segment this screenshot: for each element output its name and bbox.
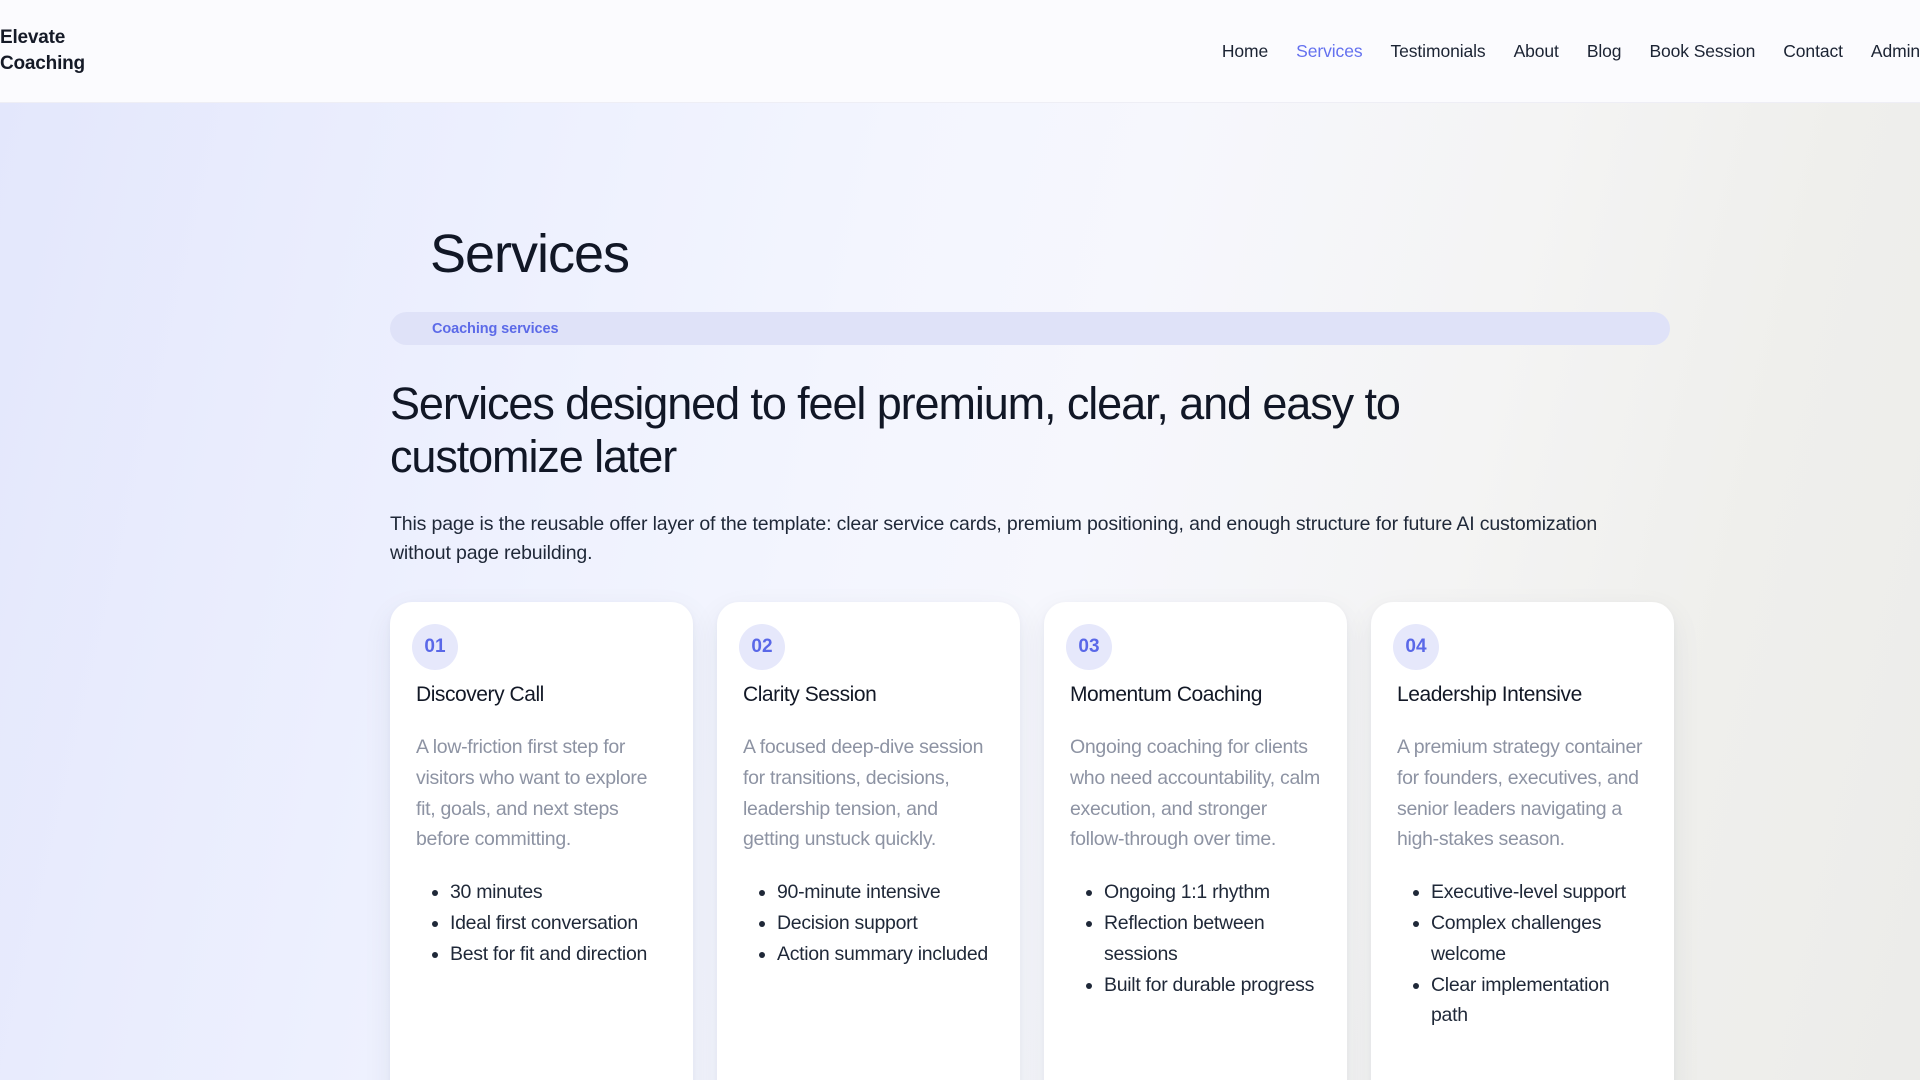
list-item: 90-minute intensive: [777, 877, 994, 908]
hero-subcopy: This page is the reusable offer layer of…: [390, 510, 1660, 569]
nav-item-about[interactable]: About: [1514, 41, 1559, 62]
card-description: A premium strategy container for founder…: [1397, 732, 1648, 855]
list-item: Action summary included: [777, 939, 994, 970]
nav-item-book-session[interactable]: Book Session: [1649, 41, 1755, 62]
eyebrow-label: Coaching services: [432, 321, 558, 337]
hero-headline: Services designed to feel premium, clear…: [390, 377, 1530, 483]
card-description: A low-friction first step for visitors w…: [416, 732, 667, 855]
list-item: Complex challenges welcome: [1431, 908, 1648, 970]
brand-logo[interactable]: Elevate Coaching: [0, 25, 200, 76]
service-cards-row: 01 Discovery Call A low-friction first s…: [390, 602, 1710, 1080]
card-number-badge: 03: [1066, 624, 1112, 670]
card-feature-list: Ongoing 1:1 rhythm Reflection between se…: [1070, 877, 1321, 1000]
list-item: Ongoing 1:1 rhythm: [1104, 877, 1321, 908]
card-number-badge: 01: [412, 624, 458, 670]
list-item: Ideal first conversation: [450, 908, 667, 939]
main-navigation: Home Services Testimonials About Blog Bo…: [1222, 41, 1920, 62]
card-number-badge: 04: [1393, 624, 1439, 670]
service-card[interactable]: 02 Clarity Session A focused deep-dive s…: [717, 602, 1020, 1080]
card-title: Momentum Coaching: [1070, 682, 1321, 708]
nav-item-testimonials[interactable]: Testimonials: [1390, 41, 1485, 62]
card-feature-list: 90-minute intensive Decision support Act…: [743, 877, 994, 969]
list-item: 30 minutes: [450, 877, 667, 908]
hero-content: Services Coaching services Services desi…: [210, 103, 1710, 1080]
nav-item-blog[interactable]: Blog: [1587, 41, 1622, 62]
list-item: Reflection between sessions: [1104, 908, 1321, 970]
card-title: Clarity Session: [743, 682, 994, 708]
card-title: Discovery Call: [416, 682, 667, 708]
card-feature-list: 30 minutes Ideal first conversation Best…: [416, 877, 667, 969]
list-item: Best for fit and direction: [450, 939, 667, 970]
list-item: Executive-level support: [1431, 877, 1648, 908]
card-feature-list: Executive-level support Complex challeng…: [1397, 877, 1648, 1031]
card-title: Leadership Intensive: [1397, 682, 1648, 708]
hero-section: Services Coaching services Services desi…: [0, 103, 1920, 1080]
nav-item-services[interactable]: Services: [1296, 41, 1362, 62]
service-card[interactable]: 01 Discovery Call A low-friction first s…: [390, 602, 693, 1080]
brand-line-1: Elevate: [0, 25, 200, 51]
nav-item-home[interactable]: Home: [1222, 41, 1268, 62]
service-card[interactable]: 04 Leadership Intensive A premium strate…: [1371, 602, 1674, 1080]
page-title: Services: [430, 103, 1710, 284]
card-number-badge: 02: [739, 624, 785, 670]
list-item: Decision support: [777, 908, 994, 939]
services-page: Elevate Coaching Home Services Testimoni…: [0, 0, 1920, 1080]
eyebrow-badge: Coaching services: [390, 312, 1670, 345]
card-description: Ongoing coaching for clients who need ac…: [1070, 732, 1321, 855]
site-header: Elevate Coaching Home Services Testimoni…: [0, 0, 1920, 103]
nav-item-contact[interactable]: Contact: [1783, 41, 1843, 62]
card-description: A focused deep-dive session for transiti…: [743, 732, 994, 855]
service-card[interactable]: 03 Momentum Coaching Ongoing coaching fo…: [1044, 602, 1347, 1080]
brand-line-2: Coaching: [0, 51, 200, 77]
nav-item-admin[interactable]: Admin: [1871, 41, 1920, 62]
list-item: Clear implementation path: [1431, 970, 1648, 1032]
list-item: Built for durable progress: [1104, 970, 1321, 1001]
